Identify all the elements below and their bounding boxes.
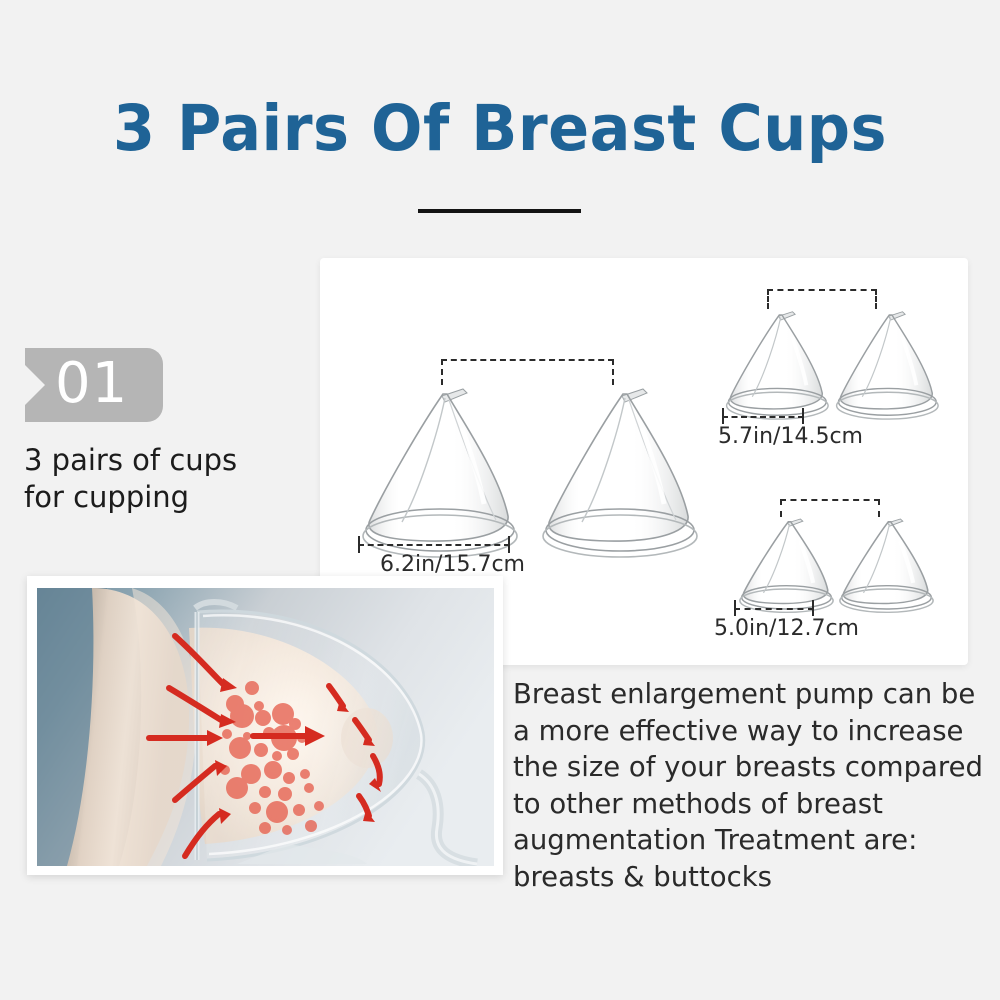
cup-medium-left — [718, 306, 840, 421]
cup-small-left — [732, 514, 844, 614]
left-caption: 3 pairs of cups for cupping — [24, 442, 324, 516]
cup-pair-small — [726, 496, 936, 616]
description-line-2: a more effective way to increase — [513, 713, 1000, 750]
description-line-6: breasts & buttocks — [513, 859, 1000, 896]
cup-large-left — [350, 380, 535, 560]
left-caption-line-2: for cupping — [24, 479, 324, 516]
page-title: 3 Pairs Of Breast Cups — [20, 96, 980, 162]
description-line-5: augmentation Treatment are: — [513, 822, 1000, 859]
breast-cupping-illustration — [37, 588, 494, 866]
left-caption-line-1: 3 pairs of cups — [24, 442, 324, 479]
description-paragraph: Breast enlargement pump can be a more ef… — [513, 676, 1000, 895]
measurement-small: 5.0in/12.7cm — [734, 600, 874, 646]
measurement-medium-label: 5.7in/14.5cm — [718, 424, 863, 449]
measurement-large-label: 6.2in/15.7cm — [380, 552, 525, 577]
measurement-medium: 5.7in/14.5cm — [722, 408, 862, 454]
step-badge-01: 01 — [25, 348, 163, 422]
description-line-1: Breast enlargement pump can be — [513, 676, 1000, 713]
cup-large-right — [530, 380, 715, 560]
description-line-4: to other methods of breast — [513, 786, 1000, 823]
measurement-small-label: 5.0in/12.7cm — [714, 616, 859, 641]
step-badge-number: 01 — [55, 356, 128, 412]
illustration-card — [27, 576, 503, 875]
description-line-3: the size of your breasts compared — [513, 749, 1000, 786]
cup-medium-right — [828, 306, 950, 421]
product-infographic: 3 Pairs Of Breast Cups 01 3 pairs of cup… — [0, 0, 1000, 1000]
cup-small-right — [832, 514, 944, 614]
title-divider — [418, 209, 581, 213]
cup-pair-medium — [710, 286, 930, 416]
chevron-notch-icon — [25, 365, 45, 405]
